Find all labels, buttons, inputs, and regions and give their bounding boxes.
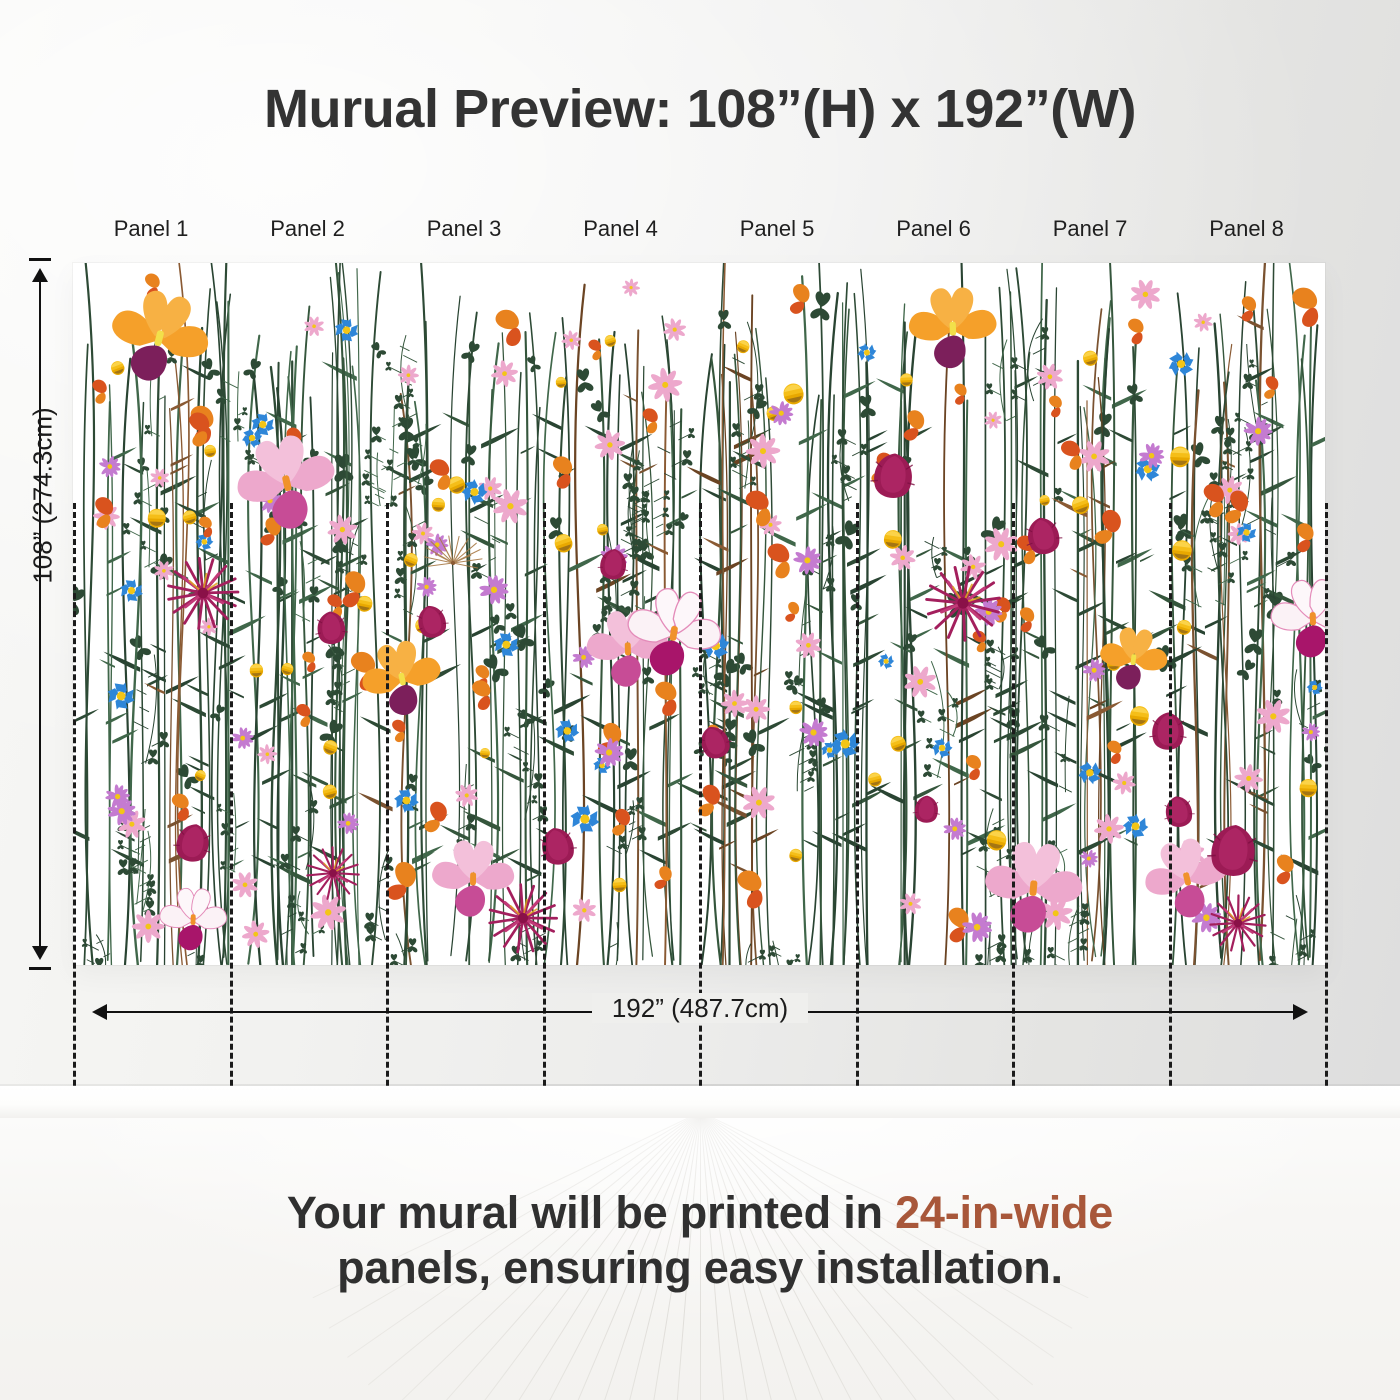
baseboard [0,1086,1400,1120]
mural-preview-area[interactable] [73,263,1325,965]
panel-label-3: Panel 3 [386,216,542,242]
mural-preview-screenshot: Murual Preview: 108”(H) x 192”(W) [0,0,1400,1400]
caption-text-before: Your mural will be printed in [287,1187,895,1238]
footer-caption: Your mural will be printed in 24-in-wide… [0,1186,1400,1296]
panel-label-1: Panel 1 [73,216,229,242]
panel-label-6: Panel 6 [856,216,1012,242]
caption-highlight: 24-in-wide [895,1187,1113,1238]
height-dimension-label: 108” (274.3cm) [28,331,59,661]
width-dimension-label: 192” (487.7cm) [0,993,1400,1024]
caption-line-1: Your mural will be printed in 24-in-wide [0,1186,1400,1241]
height-cap-bottom [29,967,51,970]
height-cap-top [29,258,51,261]
panel-label-8: Panel 8 [1169,216,1325,242]
height-arrowhead-down [32,946,48,960]
panel-label-4: Panel 4 [543,216,699,242]
caption-line-2: panels, ensuring easy installation. [0,1241,1400,1296]
panel-label-5: Panel 5 [699,216,855,242]
width-dimension-text: 192” (487.7cm) [592,993,808,1023]
panel-label-7: Panel 7 [1012,216,1168,242]
panel-label-2: Panel 2 [230,216,386,242]
height-arrowhead-up [32,268,48,282]
page-title: Murual Preview: 108”(H) x 192”(W) [0,78,1400,140]
